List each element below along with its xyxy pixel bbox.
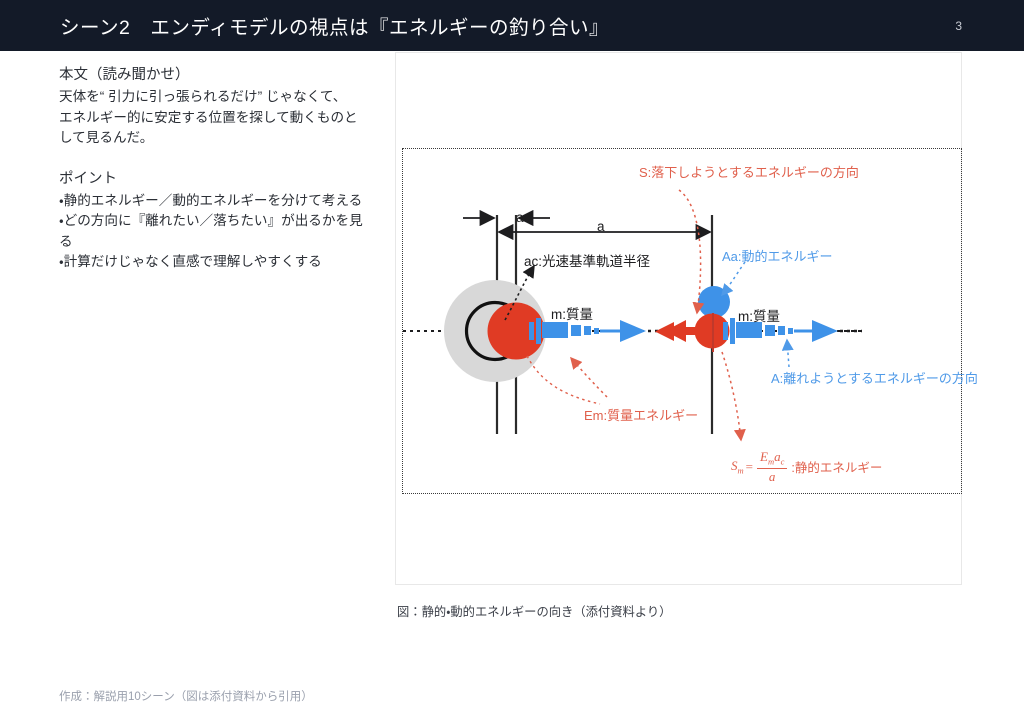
formula-denominator: a (766, 469, 779, 484)
point-item: ・計算だけじゃなく直感で理解しやすくする (59, 252, 364, 273)
formula-lhs-sub: m (738, 466, 744, 476)
a-dimension-label: a (597, 219, 605, 234)
slide-header: シーン2 エンディモデルの視点は『エネルギーの釣り合い』 3 (0, 0, 1024, 51)
a-direction-label: A:離れようとするエネルギーの方向 (771, 368, 978, 387)
left-text-column: 本文（読み聞かせ） 天体を“ 引力に引っ張られるだけ” じゃなくて、 エネルギー… (59, 64, 364, 273)
figure-caption: 図：静的・動的エネルギーの向き（添付資料より） (397, 602, 671, 620)
formula-den-a: a (769, 469, 776, 484)
point-item: ・どの方向に『離れたい／落ちたい』が出るかを見る (59, 211, 364, 252)
mass-label-left: m:質量 (551, 303, 593, 323)
points-section: ポイント ・静的エネルギー／動的エネルギーを分けて考える ・どの方向に『離れたい… (59, 168, 364, 273)
s-direction-label: S:落下しようとするエネルギーの方向 (639, 162, 859, 181)
static-energy-formula: Sm = Emac a :静的エネルギー (731, 450, 882, 484)
body-text: 天体を“ 引力に引っ張られるだけ” じゃなくて、 エネルギー的に安定する位置を探… (59, 87, 364, 149)
ac-description-label: ac:光速基準軌道半径 (524, 250, 650, 270)
points-heading: ポイント (59, 168, 364, 190)
ac-dimension-label: ac (516, 210, 530, 225)
formula-num-e: E (760, 449, 768, 464)
diagram-dotted-frame (402, 148, 962, 494)
mass-label-right: m:質量 (738, 305, 780, 325)
formula-fraction: Emac a (757, 450, 787, 484)
page-number: 3 (955, 0, 962, 51)
formula-equals: = (746, 459, 753, 475)
formula-tail-label: :静的エネルギー (791, 457, 882, 476)
formula-num-a-sub: c (781, 457, 785, 467)
footer-note: 作成：解説用10シーン（図は添付資料から引用） (59, 688, 313, 704)
page-title: シーン2 エンディモデルの視点は『エネルギーの釣り合い』 (60, 0, 609, 51)
formula-numerator: Emac (757, 450, 787, 469)
body-heading: 本文（読み聞かせ） (59, 64, 364, 86)
aa-kinetic-label: Aa:動的エネルギー (722, 246, 833, 265)
em-mass-energy-label: Em:質量エネルギー (584, 405, 698, 424)
point-item: ・静的エネルギー／動的エネルギーを分けて考える (59, 191, 364, 212)
